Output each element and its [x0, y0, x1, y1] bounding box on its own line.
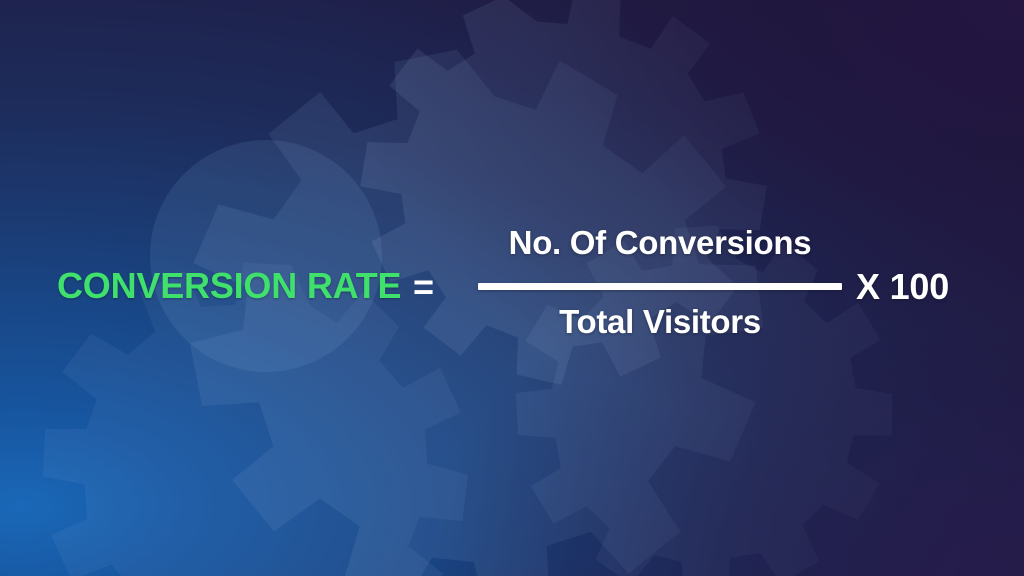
- slide-canvas: CONVERSION RATE = No. Of Conversions Tot…: [0, 0, 1024, 576]
- conversion-rate-formula: CONVERSION RATE = No. Of Conversions Tot…: [0, 0, 1024, 576]
- equals-sign: =: [413, 266, 434, 308]
- formula-term-label: CONVERSION RATE: [57, 265, 401, 307]
- fraction-bar: [478, 283, 842, 290]
- formula-multiplier: X 100: [856, 266, 949, 308]
- fraction: No. Of Conversions Total Visitors: [478, 222, 842, 342]
- fraction-numerator: No. Of Conversions: [478, 222, 842, 264]
- fraction-denominator: Total Visitors: [478, 302, 842, 342]
